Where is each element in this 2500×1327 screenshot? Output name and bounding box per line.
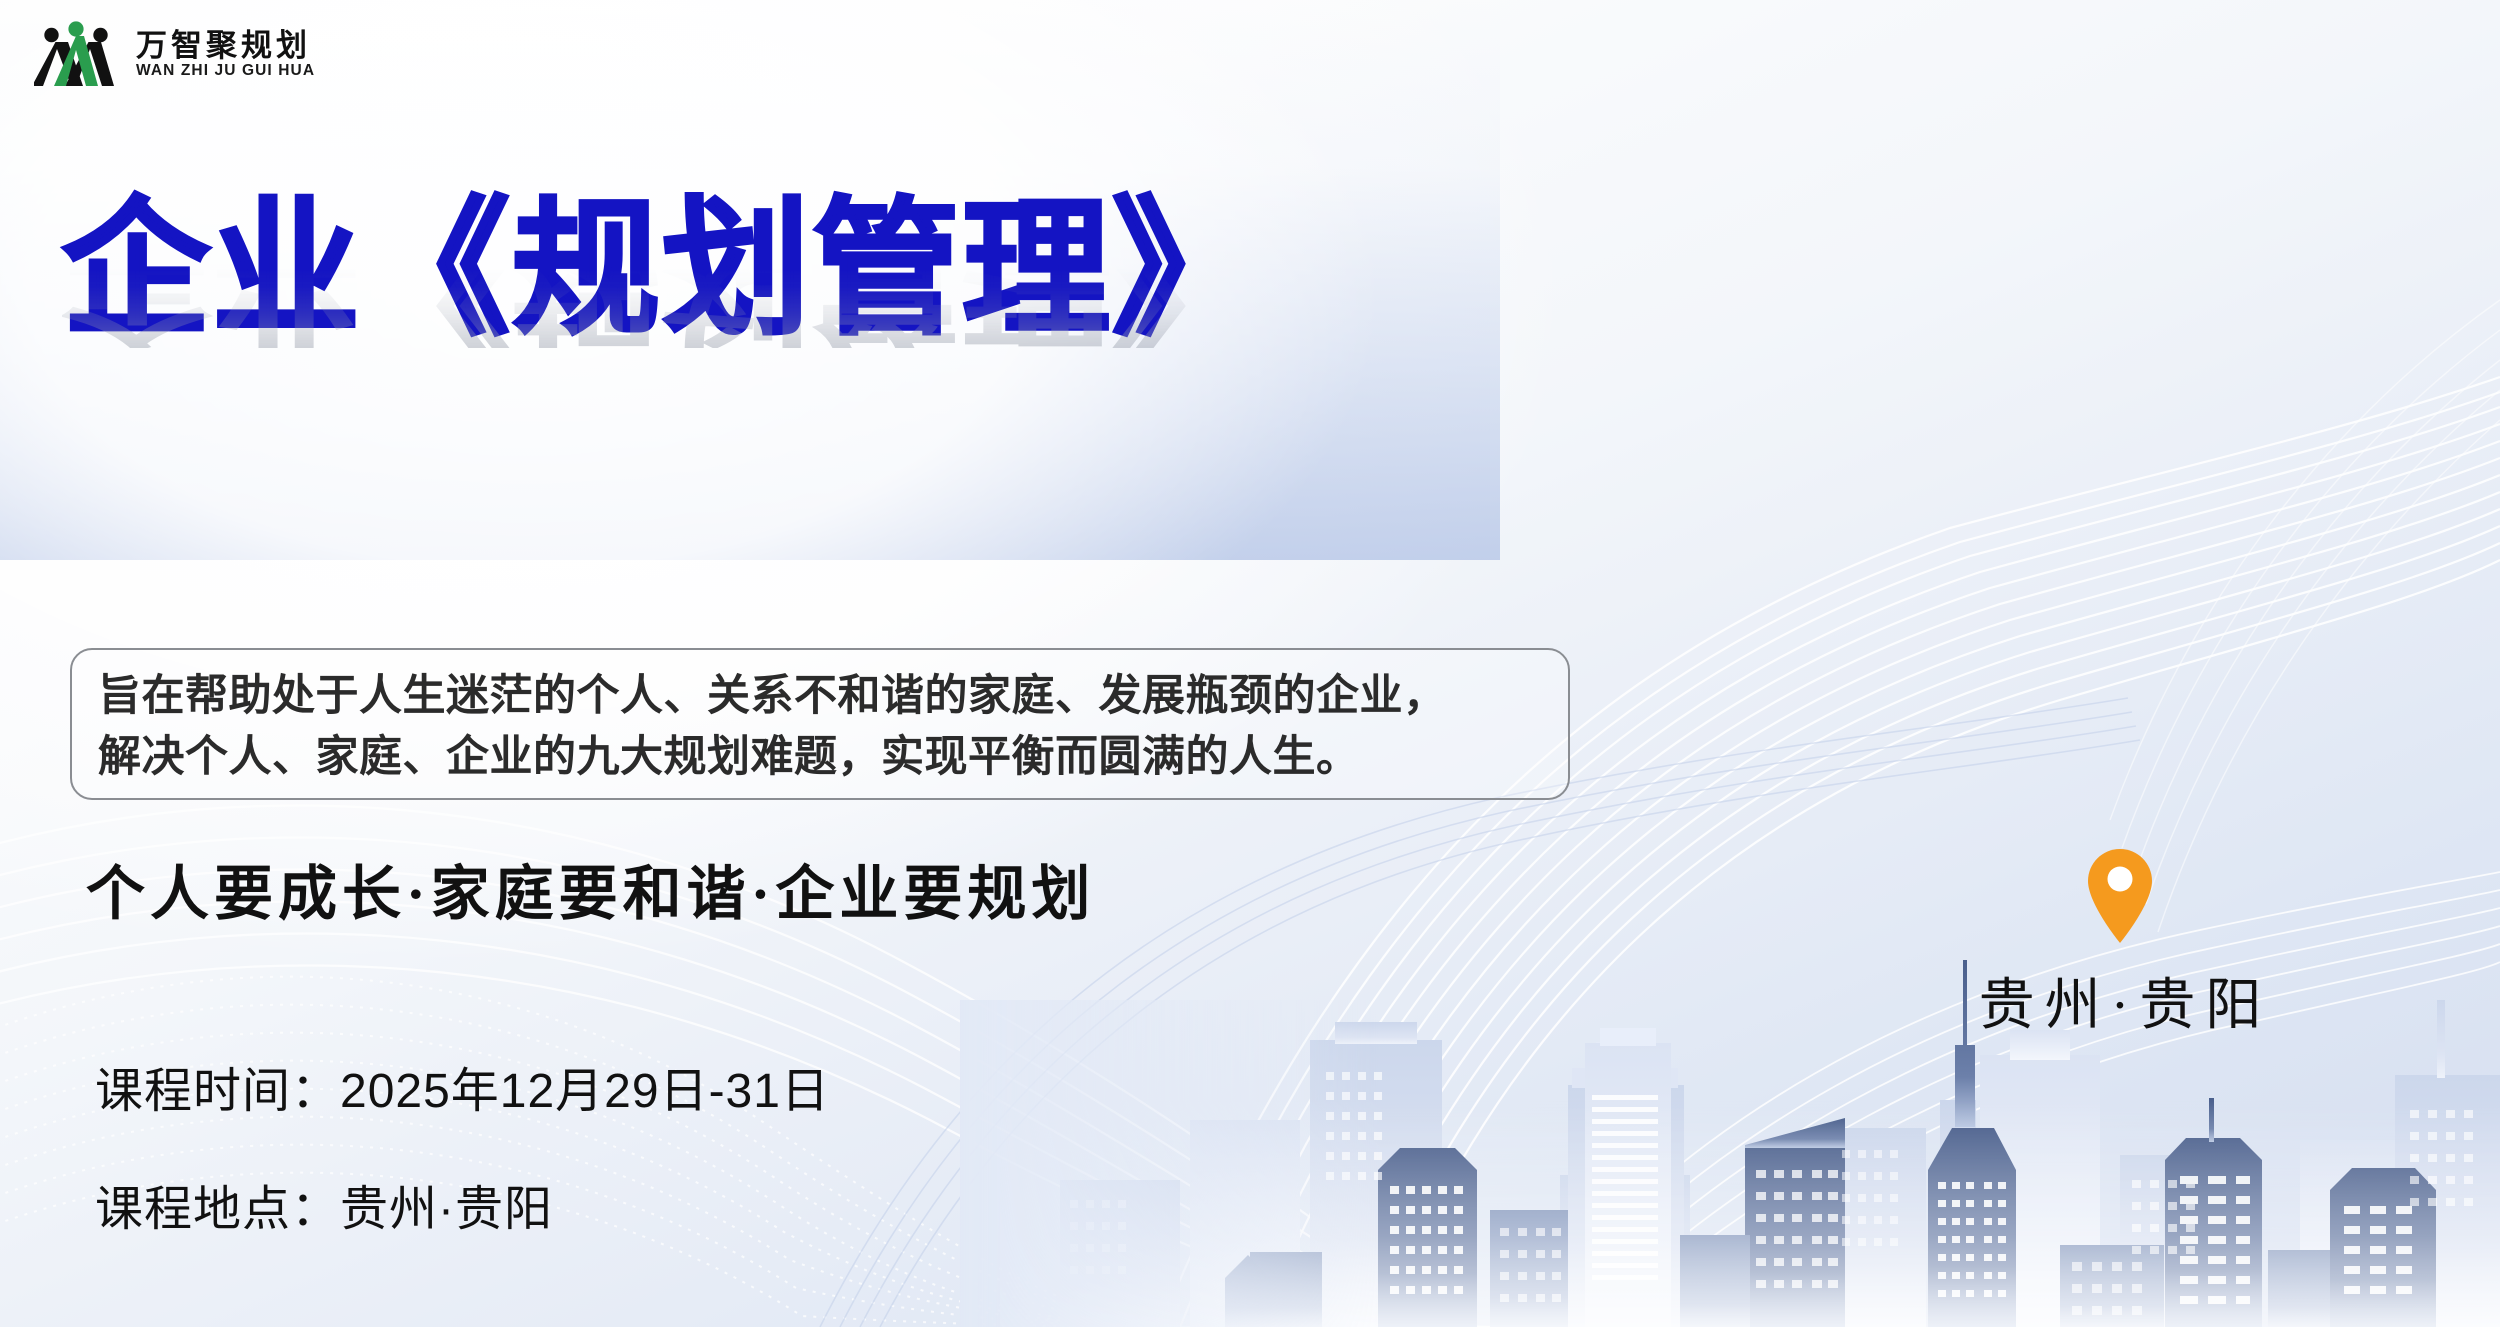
three-people-mountain-logo-icon xyxy=(34,18,118,90)
tagline: 个人要成长·家庭要和谐·企业要规划 xyxy=(86,846,1095,931)
course-time: 课程时间：2025年12月29日-31日 xyxy=(95,1051,830,1121)
hero-title-reflection: 企业《规划管理》 xyxy=(62,256,1262,348)
poster-canvas: 万智聚规划 WAN ZHI JU GUI HUA 企业《规划管理》 企业《规划管… xyxy=(0,0,2500,1327)
logo-name-en: WAN ZHI JU GUI HUA xyxy=(136,63,315,79)
course-info-block: 课程时间：2025年12月29日-31日 课程地点：贵州·贵阳 xyxy=(95,1051,830,1239)
logo-name-cn: 万智聚规划 xyxy=(136,30,315,61)
map-pin-icon xyxy=(2085,846,2155,946)
location-name: 贵州·贵阳 xyxy=(1940,960,2300,1041)
description-line-1: 旨在帮助处于人生迷茫的个人、关系不和谐的家庭、发展瓶颈的企业， xyxy=(98,666,1544,727)
description-box: 旨在帮助处于人生迷茫的个人、关系不和谐的家庭、发展瓶颈的企业， 解决个人、家庭、… xyxy=(70,648,1570,800)
course-place: 课程地点：贵州·贵阳 xyxy=(95,1169,830,1239)
logo-wordmark: 万智聚规划 WAN ZHI JU GUI HUA xyxy=(136,30,315,79)
brand-logo[interactable]: 万智聚规划 WAN ZHI JU GUI HUA xyxy=(34,18,315,90)
hero-title-block: 企业《规划管理》 企业《规划管理》 xyxy=(62,196,1622,526)
description-line-2: 解决个人、家庭、企业的九大规划难题，实现平衡而圆满的人生。 xyxy=(98,727,1544,788)
location-block: 贵州·贵阳 xyxy=(1940,846,2300,1041)
